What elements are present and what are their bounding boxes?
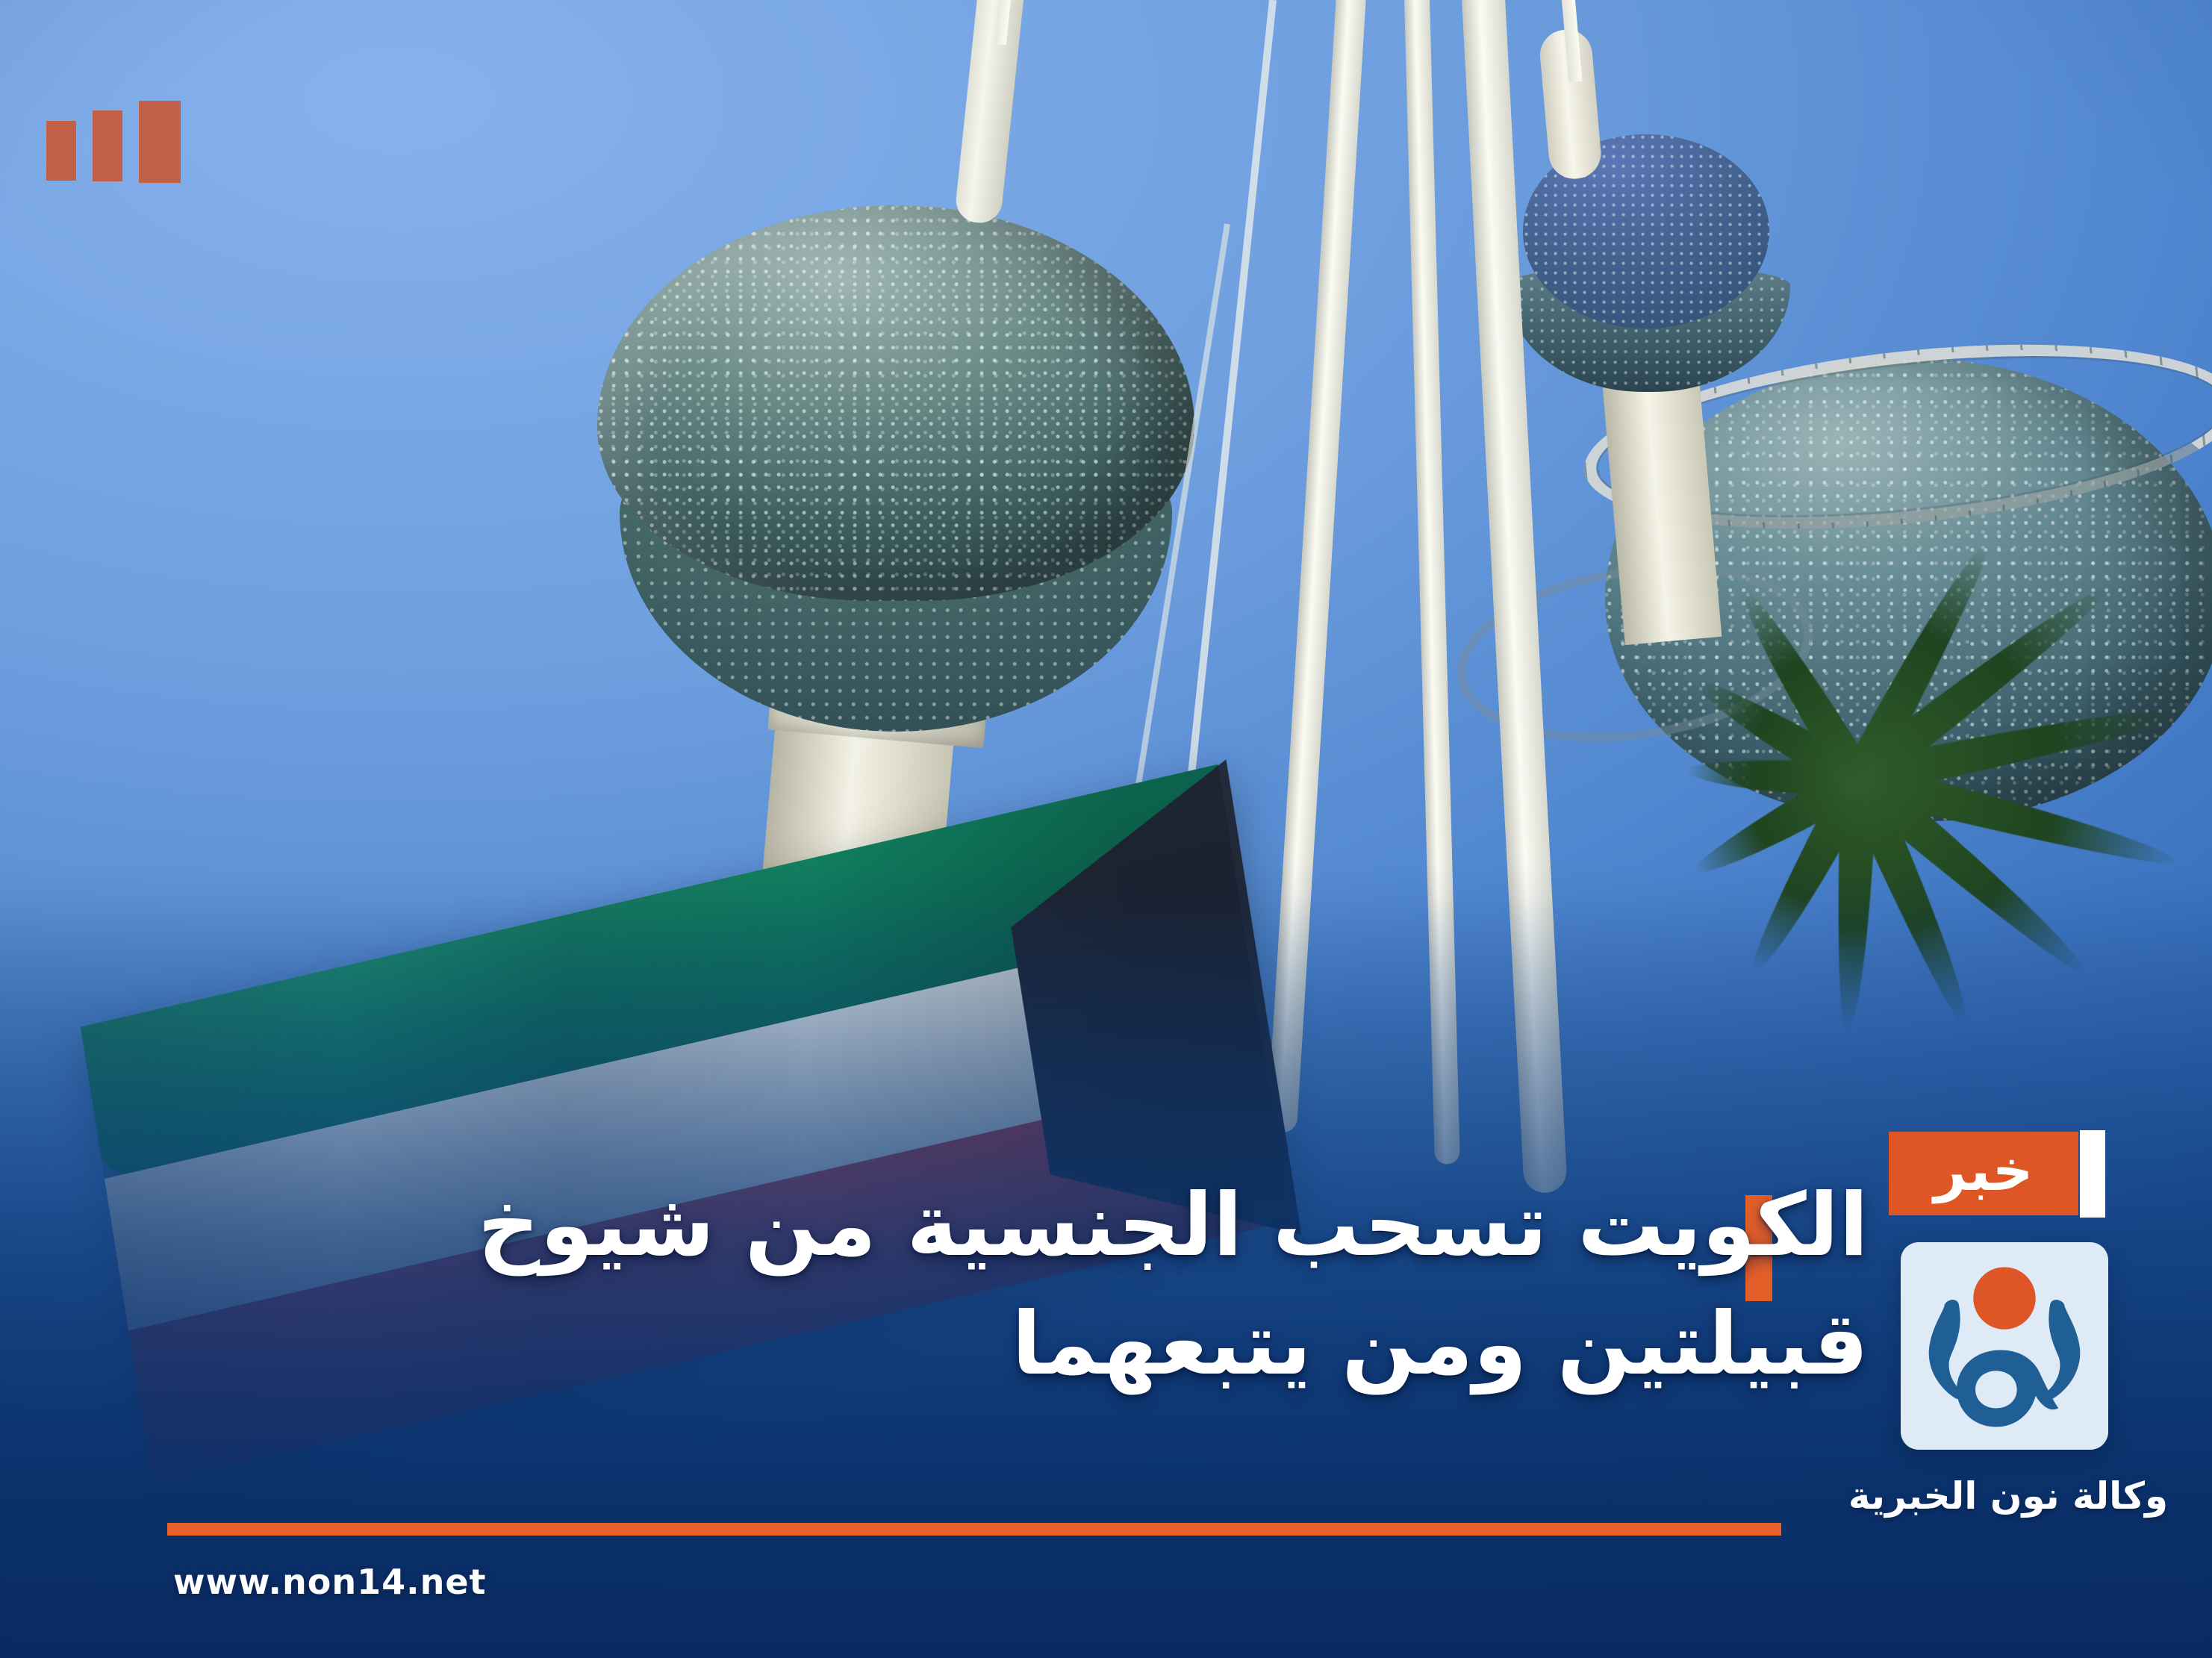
news-badge-label: خبر xyxy=(1934,1142,2033,1199)
agency-logo xyxy=(1901,1242,2108,1450)
headline: الكويت تسحب الجنسية من شيوخ قبيلتين ومن … xyxy=(112,1165,1869,1406)
headline-line-2: قبيلتين ومن يتبعهما xyxy=(112,1283,1869,1406)
noon-agency-logo-icon xyxy=(1901,1242,2108,1450)
background-photo xyxy=(0,0,2212,1658)
website-url: www.non14.net xyxy=(173,1562,487,1602)
headline-line-1: الكويت تسحب الجنسية من شيوخ xyxy=(112,1165,1869,1288)
agency-name: وكالة نون الخبرية xyxy=(1822,1474,2195,1518)
photo-vignette xyxy=(0,0,2212,1658)
news-card: الكويت تسحب الجنسية من شيوخ قبيلتين ومن … xyxy=(0,0,2212,1658)
footer-divider xyxy=(167,1523,1781,1536)
news-badge-white-bar xyxy=(2080,1130,2105,1218)
news-badge: خبر xyxy=(1889,1132,2078,1215)
brand-bars-icon xyxy=(46,101,181,183)
